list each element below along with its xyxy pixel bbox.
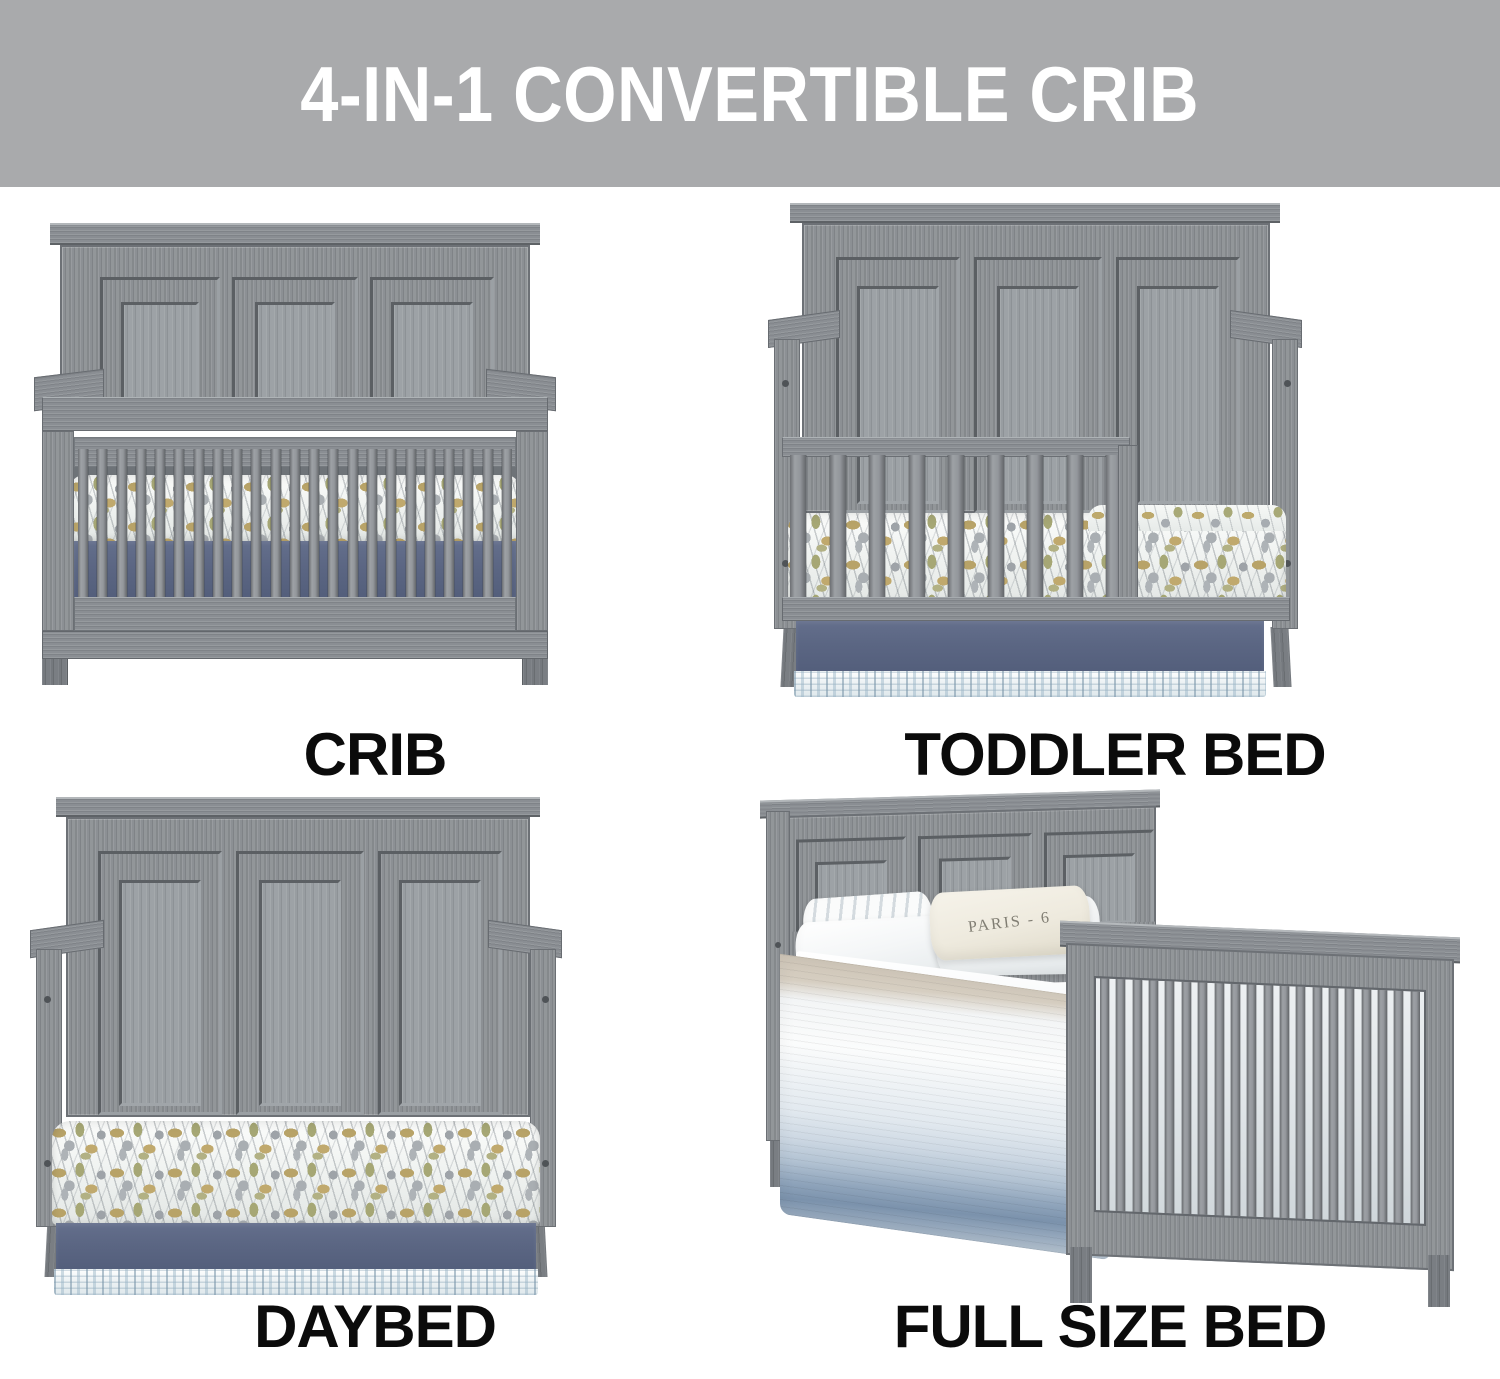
toddler-bolt-right-top [1284,380,1291,387]
full-bolt-left [775,942,781,948]
crib-headboard-panel-3 [370,277,494,409]
panel-crib-label: CRIB [20,725,730,785]
daybed-headboard-panel-2 [236,851,364,1115]
daybed-mattress-sheet [52,1121,540,1225]
toddler-skirt [796,621,1264,673]
daybed-bolt-right-bottom [542,1160,549,1167]
daybed-top-cap [56,797,540,817]
full-footboard-slats [1100,978,1420,1223]
crib-post-left [42,431,74,631]
panel-toddler-bed[interactable]: TODDLER BED [760,197,1470,797]
panel-crib[interactable]: CRIB [20,197,730,797]
daybed-headboard-panel-3 [378,851,502,1115]
panel-full-size-bed-label: FULL SIZE BED [730,1297,1490,1357]
crib-top-rail [42,397,548,431]
daybed-illustration [20,777,730,1297]
panel-daybed-label: DAYBED [20,1297,730,1357]
configuration-grid: CRIB [0,187,1500,1379]
toddler-front-rail [782,597,1290,621]
full-footboard [1066,943,1454,1271]
daybed-bolt-left-bottom [44,1160,51,1167]
daybed-headboard-panel-1 [98,851,222,1115]
crib-post-right [516,431,548,631]
header-banner: 4-IN-1 CONVERTIBLE CRIB [0,0,1500,187]
crib-headboard-panel-2 [232,277,358,409]
toddler-skirt-hem [794,671,1266,697]
toddler-bed-illustration [760,197,1470,717]
page-title: 4-IN-1 CONVERTIBLE CRIB [301,55,1200,133]
panel-toddler-bed-label: TODDLER BED [760,725,1470,785]
toddler-guardrail-top [782,437,1130,457]
daybed-skirt-hem [54,1269,538,1295]
daybed-bolt-left-top [44,996,51,1003]
full-size-bed-illustration: PARIS - 6 [730,777,1490,1297]
daybed-headboard [66,817,530,1117]
toddler-top-cap [790,203,1280,223]
panel-daybed[interactable]: DAYBED [20,777,730,1377]
crib-slat-rail [78,449,512,599]
toddler-leg-right [1270,627,1291,687]
full-footboard-slat-cavity [1094,976,1426,1226]
daybed-skirt [56,1223,536,1271]
daybed-bolt-right-top [542,996,549,1003]
toddler-guardrail-slats [790,455,1122,607]
crib-top-cap [50,223,540,245]
toddler-guardrail-end-post [1118,445,1138,607]
crib-front-lower-rail [74,597,516,631]
crib-headboard [60,245,530,407]
crib-base-rail [42,631,548,659]
full-bed-quilt [780,954,1110,1260]
crib-illustration [20,197,730,717]
full-pillow-paris-text: PARIS - 6 [968,909,1053,937]
panel-full-size-bed[interactable]: PARIS - 6 [730,777,1490,1377]
crib-headboard-panel-1 [100,277,220,409]
toddler-bolt-left-top [782,380,789,387]
